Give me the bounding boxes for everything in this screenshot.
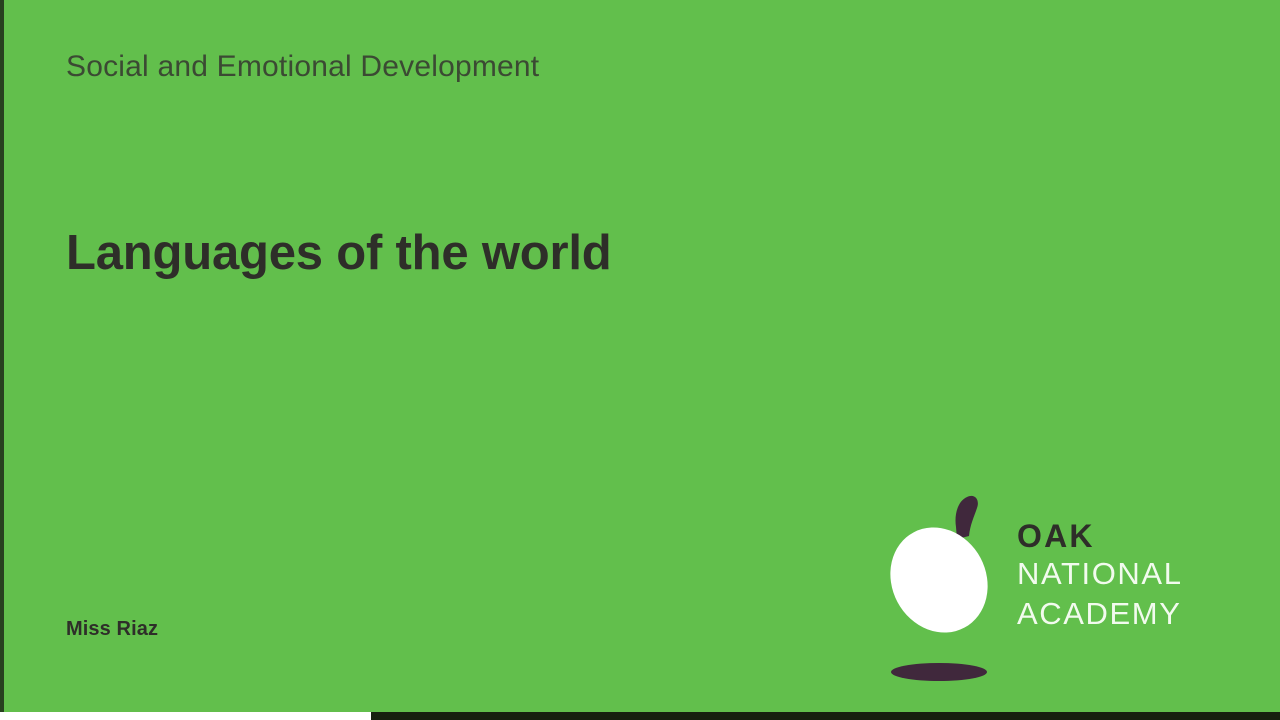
video-progress-fill[interactable] [0,712,371,720]
slide-title: Languages of the world [66,225,612,281]
oak-national-academy-logo: OAK NATIONAL ACADEMY [884,492,1234,688]
video-player-viewport: Social and Emotional Development Languag… [0,0,1280,720]
slide-subject-label: Social and Emotional Development [66,50,539,84]
acorn-icon [884,492,999,688]
logo-wordmark: OAK NATIONAL ACADEMY [1017,518,1232,634]
teacher-name-label: Miss Riaz [66,618,158,641]
logo-text-oak: OAK [1017,518,1232,554]
logo-text-academy: ACADEMY [1017,594,1232,634]
logo-text-national: NATIONAL [1017,554,1232,594]
left-edge-letterbox [0,0,4,720]
video-progress-bar[interactable] [0,712,1280,720]
lesson-title-slide: Social and Emotional Development Languag… [0,0,1280,720]
